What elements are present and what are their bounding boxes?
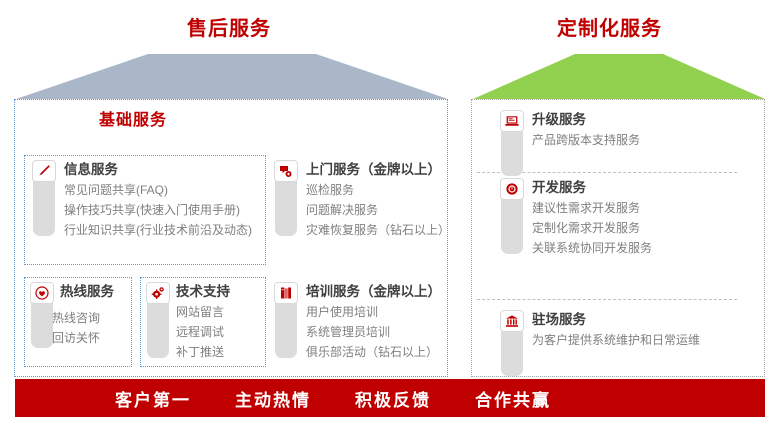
service-item: 建议性需求开发服务 — [532, 198, 652, 218]
icon-column-upgrade — [500, 110, 526, 176]
icon-stem-development — [501, 196, 523, 254]
service-item: 远程调试 — [176, 322, 230, 342]
icon-column-information — [32, 160, 58, 236]
service-block-information[interactable]: 信息服务 常见问题共享(FAQ) 操作技巧共享(快速入门使用手册) 行业知识共享… — [32, 160, 252, 240]
text-column-training: 培训服务（金牌以上） 用户使用培训 系统管理员培训 俱乐部活动（钻石以上） — [306, 282, 441, 362]
service-title-information: 信息服务 — [64, 160, 252, 180]
text-column-onsite: 上门服务（金牌以上） 巡检服务 问题解决服务 灾难恢复服务（钻石以上） — [306, 160, 450, 240]
books-icon — [274, 282, 298, 304]
icon-stem-resident — [501, 328, 523, 376]
service-item: 常见问题共享(FAQ) — [64, 180, 252, 200]
service-item: 网站留言 — [176, 302, 230, 322]
icon-column-resident — [500, 310, 526, 376]
service-title-upgrade: 升级服务 — [532, 110, 640, 130]
text-column-information: 信息服务 常见问题共享(FAQ) 操作技巧共享(快速入门使用手册) 行业知识共享… — [64, 160, 252, 240]
icon-stem-technical-support — [147, 300, 169, 358]
text-column-development: 开发服务 建议性需求开发服务 定制化需求开发服务 关联系统协同开发服务 — [532, 178, 652, 258]
subsection-title-basic-service: 基础服务 — [99, 106, 167, 130]
bank-icon — [500, 310, 524, 332]
service-item: 关联系统协同开发服务 — [532, 238, 652, 258]
handshake-icon — [274, 160, 298, 182]
icon-stem-upgrade — [501, 128, 523, 176]
service-item: 热线咨询 — [52, 308, 100, 328]
service-item: 用户使用培训 — [306, 302, 441, 322]
service-block-hotline[interactable]: 热线服务 热线咨询 回访关怀 — [30, 282, 114, 302]
icon-stem-onsite — [275, 178, 297, 236]
service-item: 俱乐部活动（钻石以上） — [306, 342, 441, 362]
gear-icon — [146, 282, 170, 304]
service-item: 巡检服务 — [306, 180, 450, 200]
service-item: 问题解决服务 — [306, 200, 450, 220]
slogan-item: 合作共赢 — [475, 386, 551, 411]
service-title-onsite: 上门服务（金牌以上） — [306, 160, 450, 180]
service-item: 产品跨版本支持服务 — [532, 130, 640, 150]
service-block-resident[interactable]: 驻场服务 为客户提供系统维护和日常运维 — [500, 310, 700, 350]
service-title-resident: 驻场服务 — [532, 310, 700, 330]
service-item: 系统管理员培训 — [306, 322, 441, 342]
service-title-training: 培训服务（金牌以上） — [306, 282, 441, 302]
slogan-item: 主动热情 — [235, 386, 311, 411]
slogan-item: 积极反馈 — [355, 386, 431, 411]
text-column-hotline: 热线服务 — [60, 282, 114, 302]
service-block-upgrade[interactable]: 升级服务 产品跨版本支持服务 — [500, 110, 640, 150]
roof-shape-right — [471, 52, 767, 100]
phone-heart-icon — [30, 282, 54, 304]
icon-column-technical-support — [146, 282, 172, 358]
text-column-technical-support: 技术支持 网站留言 远程调试 补丁推送 — [176, 282, 230, 362]
section-title-customized: 定制化服务 — [557, 12, 662, 41]
service-title-technical-support: 技术支持 — [176, 282, 230, 302]
icon-column-training — [274, 282, 300, 358]
seal-icon — [500, 178, 524, 200]
text-column-upgrade: 升级服务 产品跨版本支持服务 — [532, 110, 640, 150]
service-title-hotline: 热线服务 — [60, 282, 114, 302]
slogan-banner: 客户第一 主动热情 积极反馈 合作共赢 — [15, 379, 765, 417]
service-item: 补丁推送 — [176, 342, 230, 362]
text-column-resident: 驻场服务 为客户提供系统维护和日常运维 — [532, 310, 700, 350]
service-item: 灾难恢复服务（钻石以上） — [306, 220, 450, 240]
icon-column-onsite — [274, 160, 300, 236]
divider-development-resident — [477, 299, 737, 300]
slogan-item: 客户第一 — [115, 386, 191, 411]
service-block-technical-support[interactable]: 技术支持 网站留言 远程调试 补丁推送 — [146, 282, 230, 362]
icon-stem-information — [33, 178, 55, 236]
icon-column-development — [500, 178, 526, 254]
service-item: 为客户提供系统维护和日常运维 — [532, 330, 700, 350]
roof-shape-left — [14, 52, 450, 100]
laptop-icon — [500, 110, 524, 132]
service-block-onsite[interactable]: 上门服务（金牌以上） 巡检服务 问题解决服务 灾难恢复服务（钻石以上） — [274, 160, 450, 240]
service-item: 定制化需求开发服务 — [532, 218, 652, 238]
icon-stem-training — [275, 300, 297, 358]
pencil-icon — [32, 160, 56, 182]
service-item: 行业知识共享(行业技术前沿及动态) — [64, 220, 252, 240]
service-items-hotline: 热线咨询 回访关怀 — [52, 308, 100, 348]
icon-stem-hotline — [31, 300, 53, 348]
service-item: 操作技巧共享(快速入门使用手册) — [64, 200, 252, 220]
service-item: 回访关怀 — [52, 328, 100, 348]
service-title-development: 开发服务 — [532, 178, 652, 198]
service-block-development[interactable]: 开发服务 建议性需求开发服务 定制化需求开发服务 关联系统协同开发服务 — [500, 178, 652, 258]
service-block-training[interactable]: 培训服务（金牌以上） 用户使用培训 系统管理员培训 俱乐部活动（钻石以上） — [274, 282, 441, 362]
section-title-aftersales: 售后服务 — [187, 12, 271, 41]
